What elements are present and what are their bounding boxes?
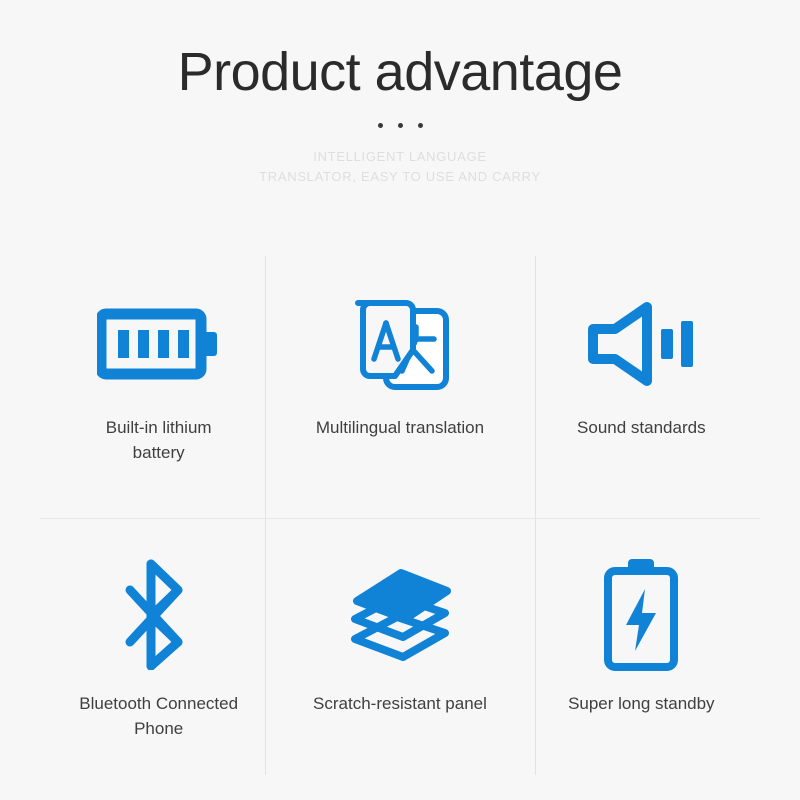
feature-label: Super long standby — [568, 692, 715, 717]
page-title: Product advantage — [0, 0, 800, 101]
feature-label: Bluetooth Connected Phone — [79, 692, 238, 741]
feature-label: Built-in lithium battery — [106, 416, 212, 465]
feature-label: Scratch-resistant panel — [313, 692, 487, 717]
dot-separator — [0, 121, 800, 131]
bluetooth-icon — [120, 544, 198, 684]
feature-cell-scratch-resistant-panel: Scratch-resistant panel — [279, 516, 520, 776]
feature-label: Multilingual translation — [316, 416, 484, 441]
battery-horizontal-full-icon — [97, 278, 221, 410]
feature-label: Sound standards — [577, 416, 706, 441]
separator-dot — [418, 123, 423, 128]
feature-cell-multilingual-translation: Multilingual translation — [279, 256, 520, 516]
separator-dot — [398, 123, 403, 128]
feature-cell-lithium-battery: Built-in lithium battery — [38, 256, 279, 516]
stacked-layers-icon — [345, 544, 455, 684]
separator-dot — [378, 123, 383, 128]
product-advantage-infographic: Product advantage INTELLIGENT LANGUAGE T… — [0, 0, 800, 800]
header: Product advantage INTELLIGENT LANGUAGE T… — [0, 0, 800, 187]
feature-cell-bluetooth: Bluetooth Connected Phone — [38, 516, 279, 776]
feature-cell-sound-standards: Sound standards — [521, 256, 762, 516]
subtitle-line-1: INTELLIGENT LANGUAGE — [0, 147, 800, 167]
subtitle: INTELLIGENT LANGUAGE TRANSLATOR, EASY TO… — [0, 147, 800, 187]
subtitle-line-2: TRANSLATOR, EASY TO USE AND CARRY — [0, 167, 800, 187]
feature-grid: Built-in lithium battery — [38, 256, 762, 776]
speaker-sound-icon — [585, 278, 697, 410]
translate-languages-icon — [346, 278, 454, 410]
feature-cell-super-long-standby: Super long standby — [521, 516, 762, 776]
battery-charging-icon — [598, 544, 684, 684]
